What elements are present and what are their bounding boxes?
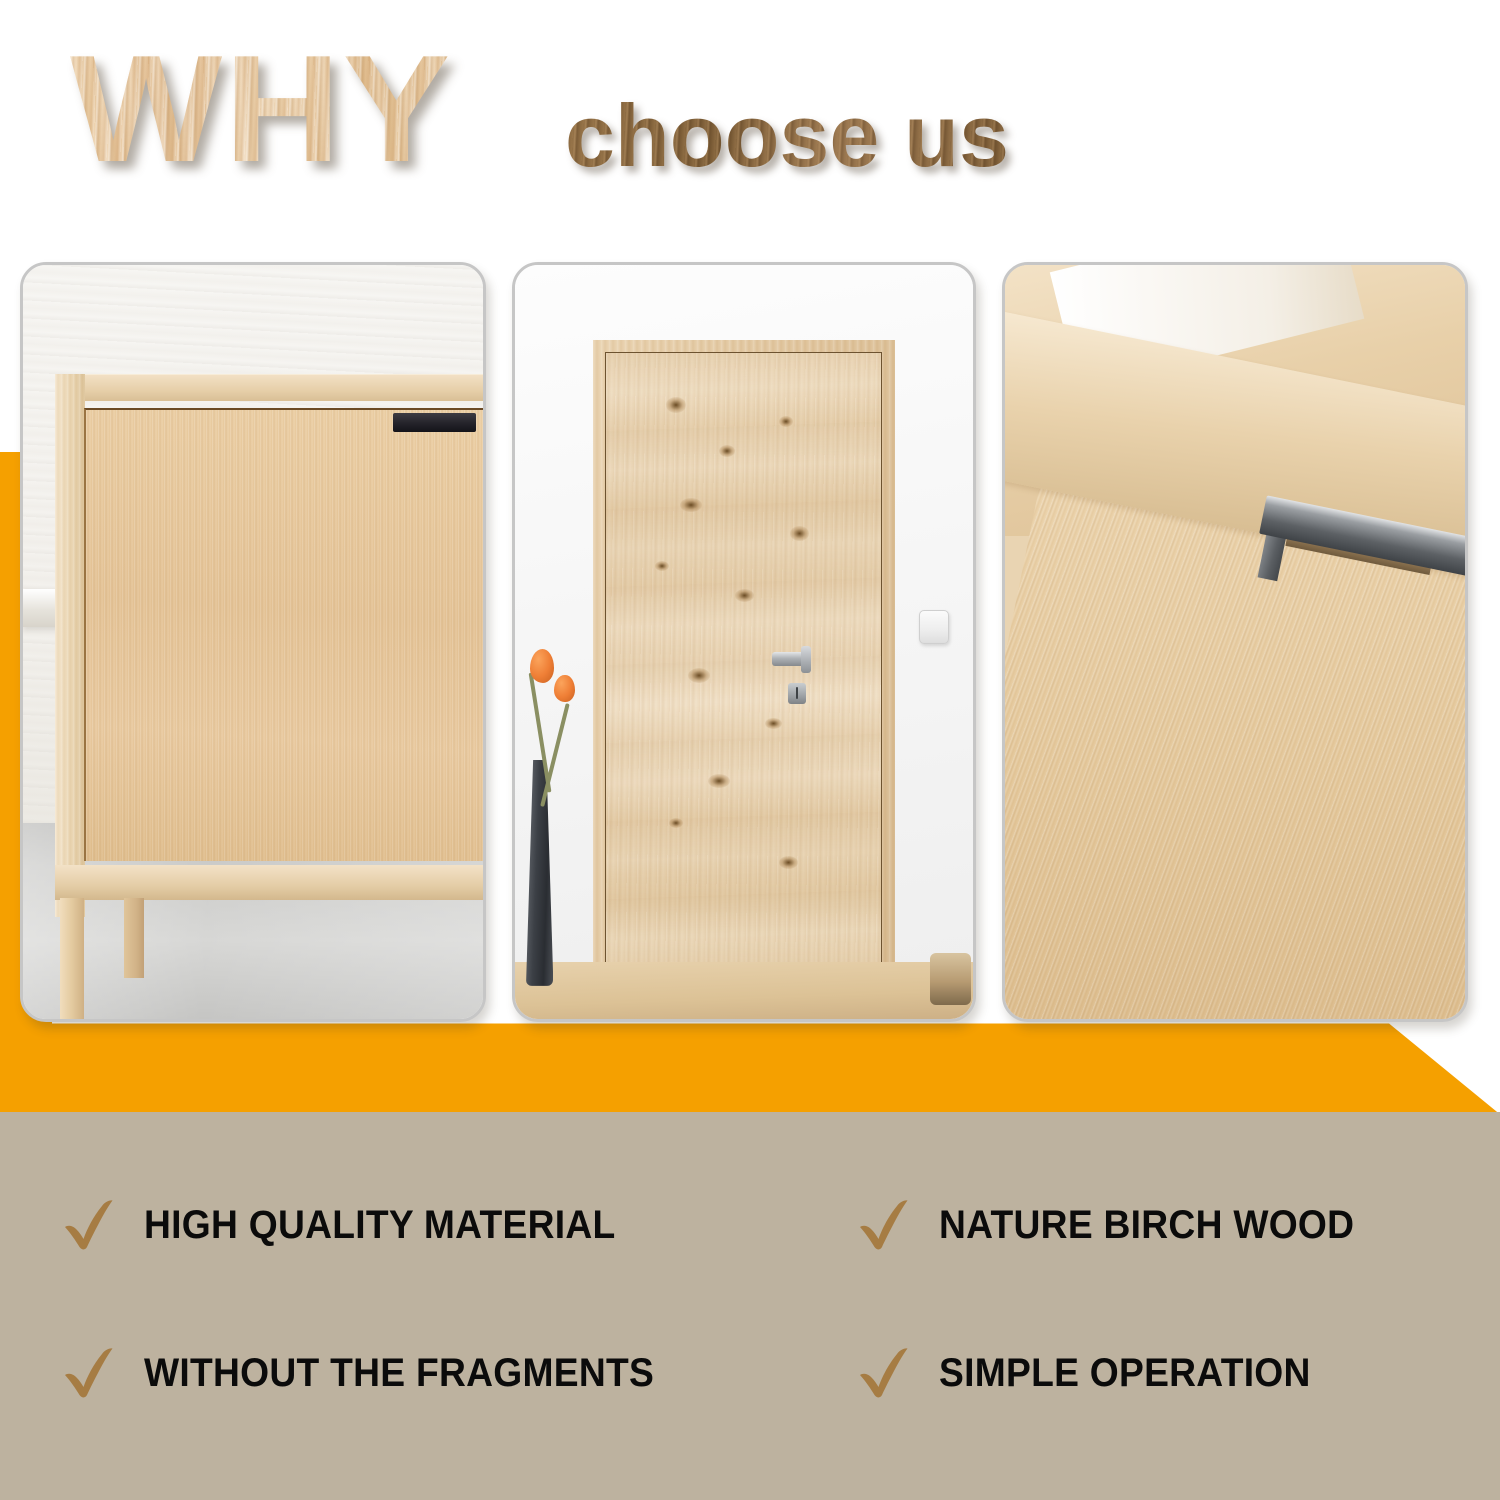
wood-knot	[779, 416, 793, 427]
door-panel	[605, 352, 882, 982]
drawer-closeup-photo	[1005, 265, 1465, 1019]
wood-knot	[779, 856, 798, 869]
gallery-card-drawer-closeup[interactable]	[1002, 262, 1468, 1022]
feature-item: NATURE BIRCH WOOD	[855, 1196, 1386, 1254]
door-handle-rose	[801, 646, 811, 672]
wood-knot	[666, 397, 685, 412]
cabinet-bottom-rail	[55, 865, 483, 900]
wood-knot	[765, 718, 782, 729]
feature-label: NATURE BIRCH WOOD	[939, 1203, 1354, 1248]
wood-knot	[655, 561, 669, 571]
feature-label: SIMPLE OPERATION	[939, 1351, 1311, 1396]
wood-knot	[708, 774, 730, 788]
features-panel: HIGH QUALITY MATERIAL NATURE BIRCH WOOD …	[0, 1112, 1500, 1500]
check-icon	[60, 1196, 118, 1254]
wood-knot	[790, 526, 809, 540]
door-photo	[515, 265, 973, 1019]
gallery-card-cabinet[interactable]	[20, 262, 486, 1022]
wood-knot	[719, 445, 736, 458]
check-icon	[855, 1344, 913, 1402]
poppy-flower	[554, 675, 574, 702]
poppy-flower	[530, 649, 555, 684]
light-switch[interactable]	[919, 610, 949, 643]
cabinet-left-rail	[55, 374, 84, 917]
cabinet-leg-back	[124, 898, 144, 978]
door-lock[interactable]	[788, 683, 806, 704]
feature-item: WITHOUT THE FRAGMENTS	[60, 1344, 692, 1402]
photo-gallery	[0, 0, 1500, 1030]
check-icon	[855, 1196, 913, 1254]
wooden-stool	[930, 953, 971, 1006]
feature-item: SIMPLE OPERATION	[855, 1344, 1339, 1402]
cabinet-photo	[23, 265, 483, 1019]
wood-knot	[688, 668, 710, 683]
cabinet-leg-front	[60, 898, 84, 1019]
floor-baseboard	[515, 962, 973, 1019]
check-icon	[60, 1344, 118, 1402]
feature-item: HIGH QUALITY MATERIAL	[60, 1196, 651, 1254]
infographic-page: WHY choose us	[0, 0, 1500, 1500]
feature-label: WITHOUT THE FRAGMENTS	[144, 1351, 654, 1396]
wood-knot	[735, 589, 754, 602]
gallery-card-door[interactable]	[512, 262, 976, 1022]
cabinet-drawer-front	[84, 408, 483, 860]
feature-label: HIGH QUALITY MATERIAL	[144, 1203, 616, 1248]
wood-knot	[680, 498, 702, 512]
cabinet-top-rail	[55, 374, 483, 401]
cabinet-drawer-handle	[393, 413, 476, 433]
wood-knot	[669, 818, 683, 828]
